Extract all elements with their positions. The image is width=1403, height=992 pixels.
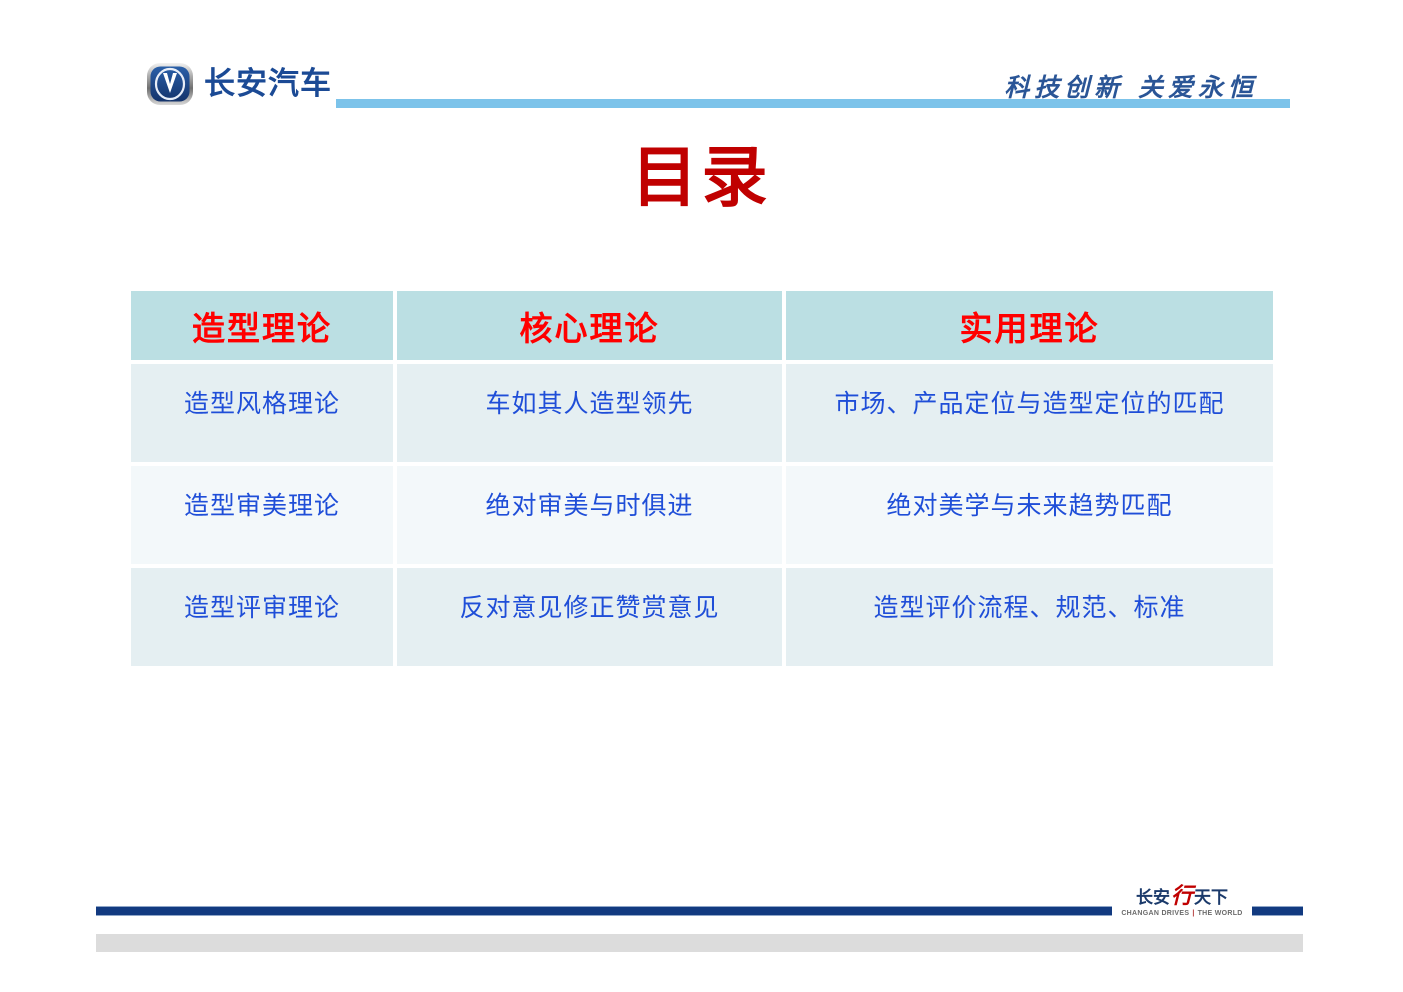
- contents-table: 造型理论 核心理论 实用理论 造型风格理论 车如其人造型领先 市场、产品定位与造…: [127, 287, 1277, 670]
- brand-block: 长安汽车: [146, 62, 332, 106]
- table-cell: 反对意见修正赞赏意见: [397, 568, 782, 666]
- table-cell: 造型评价流程、规范、标准: [786, 568, 1273, 666]
- footer-slogan-logo: 长安行天下 CHANGAN DRIVES|THE WORLD: [1112, 884, 1252, 930]
- footer-slogan-cn: 长安行天下: [1112, 884, 1252, 909]
- column-header-practical-theory: 实用理论: [786, 291, 1273, 360]
- footer-slogan-en-separator: |: [1189, 910, 1197, 917]
- page-title: 目录: [0, 143, 1403, 212]
- table-row: 造型风格理论 车如其人造型领先 市场、产品定位与造型定位的匹配: [131, 364, 1273, 462]
- changan-emblem-icon: [146, 62, 194, 106]
- table-cell: 绝对美学与未来趋势匹配: [786, 466, 1273, 564]
- footer-slogan-en-left: CHANGAN DRIVES: [1121, 910, 1189, 917]
- table-row: 造型审美理论 绝对审美与时俱进 绝对美学与未来趋势匹配: [131, 466, 1273, 564]
- table-cell: 绝对审美与时俱进: [397, 466, 782, 564]
- brand-name: 长安汽车: [204, 69, 332, 100]
- footer-slogan-en-right: THE WORLD: [1198, 910, 1243, 917]
- footer-gray-bar: [96, 934, 1303, 952]
- footer-slogan-cn-accent: 行: [1170, 883, 1194, 909]
- column-header-styling-theory: 造型理论: [131, 291, 393, 360]
- table-header-row: 造型理论 核心理论 实用理论: [131, 291, 1273, 360]
- footer-slogan-cn-left: 长安: [1136, 888, 1170, 908]
- table-row: 造型评审理论 反对意见修正赞赏意见 造型评价流程、规范、标准: [131, 568, 1273, 666]
- table-cell: 车如其人造型领先: [397, 364, 782, 462]
- table-cell: 造型审美理论: [131, 466, 393, 564]
- footer-slogan-en: CHANGAN DRIVES|THE WORLD: [1112, 910, 1252, 917]
- table-cell: 造型评审理论: [131, 568, 393, 666]
- table-cell: 造型风格理论: [131, 364, 393, 462]
- table-cell: 市场、产品定位与造型定位的匹配: [786, 364, 1273, 462]
- column-header-core-theory: 核心理论: [397, 291, 782, 360]
- footer-slogan-cn-right: 天下: [1194, 888, 1228, 908]
- slide-header: 长安汽车 科技创新 关爱永恒: [0, 0, 1403, 125]
- header-tagline: 科技创新 关爱永恒: [1004, 68, 1258, 104]
- slide-canvas: 长安汽车 科技创新 关爱永恒 目录 造型理论 核心理论 实用理论 造型风格理论 …: [0, 0, 1403, 992]
